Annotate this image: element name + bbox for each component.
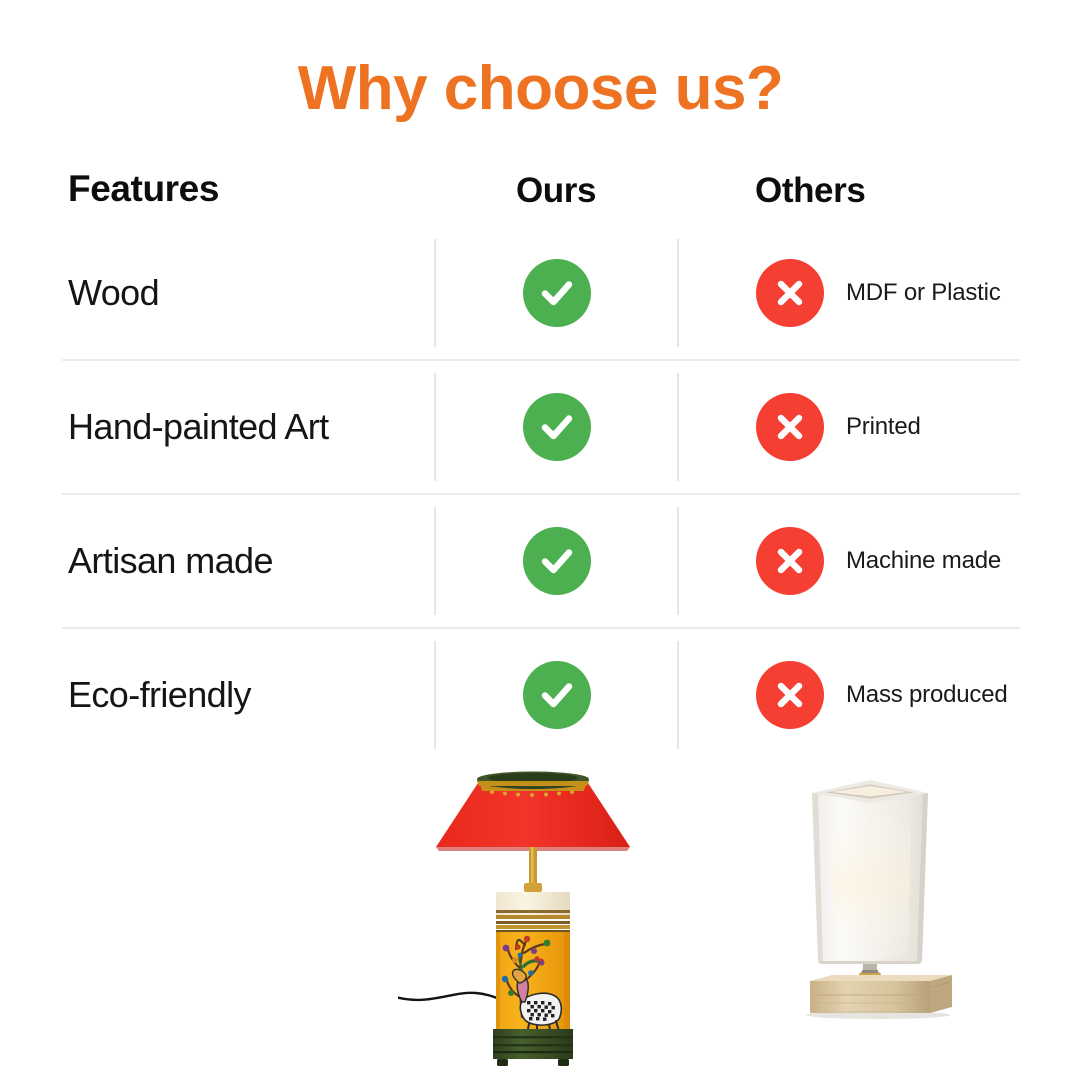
column-header-ours: Ours (435, 171, 677, 211)
others-value: Machine made (846, 547, 1001, 575)
column-divider (677, 373, 679, 481)
feature-name: Wood (68, 272, 159, 314)
table-row: Eco-friendly Mass produced (62, 629, 1020, 761)
plain-white-shade-table-lamp-image (770, 765, 980, 1065)
table-row: Wood MDF or Plastic (62, 227, 1020, 361)
cross-circle-icon (756, 393, 824, 461)
cross-circle-icon (756, 661, 824, 729)
column-divider (677, 641, 679, 749)
check-circle-icon (523, 661, 591, 729)
cross-circle-icon (756, 259, 824, 327)
cross-circle-icon (756, 527, 824, 595)
column-header-features: Features (68, 168, 219, 210)
others-value: Printed (846, 413, 921, 441)
others-value: Mass produced (846, 681, 1008, 709)
check-circle-icon (523, 259, 591, 327)
table-row: Hand-painted Art Printed (62, 361, 1020, 495)
check-circle-icon (523, 527, 591, 595)
handpainted-wooden-table-lamp-image (398, 755, 668, 1079)
feature-name: Eco-friendly (68, 674, 251, 716)
product-images (0, 755, 1081, 1079)
table-row: Artisan made Machine made (62, 495, 1020, 629)
feature-name: Hand-painted Art (68, 406, 329, 448)
column-divider (434, 507, 436, 615)
column-divider (434, 239, 436, 347)
feature-name: Artisan made (68, 540, 273, 582)
column-divider (677, 507, 679, 615)
check-circle-icon (523, 393, 591, 461)
column-divider (434, 641, 436, 749)
others-value: MDF or Plastic (846, 279, 1001, 307)
table-header-row: Features Ours Others (62, 165, 1020, 227)
column-divider (677, 239, 679, 347)
comparison-infographic: Why choose us? Features Ours Others Wood… (0, 0, 1081, 1079)
page-title: Why choose us? (0, 58, 1081, 120)
comparison-table: Features Ours Others Wood MDF or Plastic… (62, 165, 1020, 761)
column-header-others: Others (755, 171, 865, 211)
column-divider (434, 373, 436, 481)
